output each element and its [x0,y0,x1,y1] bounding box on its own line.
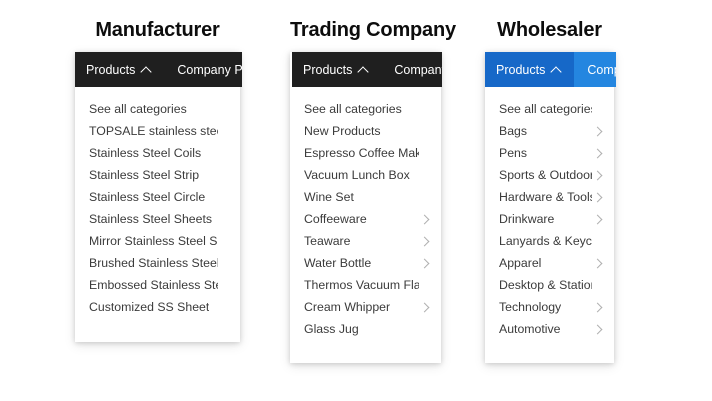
menu-item-label: Stainless Steel Circle [89,190,205,204]
chevron-right-icon [218,279,230,291]
chevron-right-icon [419,323,431,335]
chevron-right-icon [592,279,604,291]
chevron-right-icon [592,125,604,137]
chevron-right-icon [419,257,431,269]
menu-item-label: Glass Jug [304,322,359,336]
chevron-right-icon [419,235,431,247]
nav-tab-company[interactable]: Compan [574,52,616,87]
chevron-right-icon [419,279,431,291]
chevron-right-icon [419,125,431,137]
column-title-trading-company: Trading Company [290,18,441,42]
nav-tab-label: Products [303,63,352,77]
nav-tab-products[interactable]: Products [485,52,574,87]
chevron-up-icon [552,65,562,75]
menu-item-label: Hardware & Tools [499,190,592,204]
menu-item-label: Customized SS Sheet [89,300,209,314]
menu-item[interactable]: Stainless Steel Strip [75,164,240,186]
menu-list-trading-company: See all categories New Products Espresso… [290,87,441,350]
navbar-wholesaler: Products Compan [485,52,616,87]
menu-item-label: Desktop & Stationery [499,278,592,292]
menu-item-label: Pens [499,146,527,160]
menu-item[interactable]: Sports & Outdoors [485,164,614,186]
menu-item[interactable]: Automotive [485,318,614,340]
menu-item[interactable]: Thermos Vacuum Flask [290,274,441,296]
chevron-right-icon [218,191,230,203]
menu-item[interactable]: Cream Whipper [290,296,441,318]
nav-tab-label: Company Profile [177,63,242,77]
menu-item-label: Mirror Stainless Steel Sheet [89,234,218,248]
chevron-right-icon [592,213,604,225]
menu-item[interactable]: Coffeeware [290,208,441,230]
menu-item-label: Embossed Stainless Steel ... [89,278,218,292]
menu-item[interactable]: Wine Set [290,186,441,208]
menu-item[interactable]: Glass Jug [290,318,441,340]
column-title-wholesaler: Wholesaler [485,18,614,42]
menu-item-label: Cream Whipper [304,300,390,314]
chevron-right-icon [419,213,431,225]
menu-item-label: Lanyards & Keychains [499,234,592,248]
menu-item-label: Teaware [304,234,350,248]
chevron-right-icon [218,235,230,247]
menu-item-label: Thermos Vacuum Flask [304,278,419,292]
menu-item[interactable]: Water Bottle [290,252,441,274]
menu-item-label: Technology [499,300,561,314]
menu-item-label: See all categories [304,102,402,116]
chevron-right-icon [592,257,604,269]
chevron-right-icon [419,301,431,313]
menu-item-label: Stainless Steel Coils [89,146,201,160]
menu-item[interactable]: New Products [290,120,441,142]
menu-comparison-stage: Manufacturer See all categories TOPSALE … [0,0,712,401]
chevron-right-icon [592,169,604,181]
menu-item[interactable]: Drinkware [485,208,614,230]
menu-item-label: Automotive [499,322,561,336]
nav-tab-label: Products [496,63,545,77]
dropdown-panel-trading-company: See all categories New Products Espresso… [290,52,441,363]
chevron-right-icon [218,257,230,269]
menu-item[interactable]: Embossed Stainless Steel ... [75,274,240,296]
menu-item[interactable]: See all categories [75,98,240,120]
dropdown-panel-wholesaler: See all categories Bags Pens Sports & Ou… [485,52,614,363]
chevron-right-icon [592,103,604,115]
menu-item[interactable]: Pens [485,142,614,164]
menu-item-label: Espresso Coffee Maker [304,146,419,160]
menu-list-wholesaler: See all categories Bags Pens Sports & Ou… [485,87,614,350]
chevron-right-icon [592,235,604,247]
chevron-up-icon [142,65,152,75]
menu-item[interactable]: Teaware [290,230,441,252]
chevron-right-icon [592,147,604,159]
menu-item[interactable]: See all categories [485,98,614,120]
menu-item[interactable]: Lanyards & Keychains [485,230,614,252]
menu-item-label: Drinkware [499,212,554,226]
chevron-right-icon [419,191,431,203]
navbar-manufacturer: Products Company Profile [75,52,242,87]
menu-item[interactable]: Vacuum Lunch Box [290,164,441,186]
menu-item[interactable]: Mirror Stainless Steel Sheet [75,230,240,252]
menu-item-label: Apparel [499,256,541,270]
nav-tab-company[interactable]: Company [381,52,442,87]
chevron-right-icon [218,147,230,159]
menu-item[interactable]: Apparel [485,252,614,274]
menu-item[interactable]: Customized SS Sheet [75,296,240,318]
chevron-up-icon [359,65,369,75]
chevron-right-icon [218,125,230,137]
menu-item-label: See all categories [89,102,187,116]
chevron-right-icon [218,301,230,313]
chevron-right-icon [218,169,230,181]
dropdown-panel-manufacturer: See all categories TOPSALE stainless ste… [75,52,240,342]
menu-item-label: New Products [304,124,381,138]
menu-item-label: Wine Set [304,190,354,204]
navbar-trading-company: Products Company [292,52,442,87]
menu-item[interactable]: See all categories [290,98,441,120]
menu-item[interactable]: TOPSALE stainless steel [75,120,240,142]
menu-item[interactable]: Brushed Stainless Steel Sh... [75,252,240,274]
menu-item[interactable]: Hardware & Tools [485,186,614,208]
column-trading-company: Trading Company See all categories New P… [290,18,441,348]
menu-item-label: Bags [499,124,527,138]
nav-tab-products[interactable]: Products [292,52,381,87]
menu-item-label: See all categories [499,102,592,116]
menu-item-label: Sports & Outdoors [499,168,592,182]
menu-item-label: Brushed Stainless Steel Sh... [89,256,218,270]
menu-item-label: Water Bottle [304,256,371,270]
column-title-manufacturer: Manufacturer [75,18,240,42]
menu-item-label: Stainless Steel Strip [89,168,199,182]
nav-tab-products[interactable]: Products [75,52,164,87]
menu-item[interactable]: Stainless Steel Sheets [75,208,240,230]
chevron-right-icon [419,147,431,159]
menu-item[interactable]: Desktop & Stationery [485,274,614,296]
menu-item[interactable]: Stainless Steel Circle [75,186,240,208]
menu-item[interactable]: Technology [485,296,614,318]
nav-tab-label: Products [86,63,135,77]
menu-item[interactable]: Stainless Steel Coils [75,142,240,164]
chevron-right-icon [218,103,230,115]
nav-tab-company-profile[interactable]: Company Profile [164,52,242,87]
chevron-right-icon [419,103,431,115]
menu-item-label: Coffeeware [304,212,367,226]
nav-tab-label: Company [394,63,442,77]
chevron-right-icon [592,191,604,203]
column-wholesaler: Wholesaler See all categories Bags Pens … [485,18,614,348]
menu-item[interactable]: Espresso Coffee Maker [290,142,441,164]
menu-item-label: Vacuum Lunch Box [304,168,410,182]
menu-list-manufacturer: See all categories TOPSALE stainless ste… [75,87,240,328]
column-manufacturer: Manufacturer See all categories TOPSALE … [75,18,240,348]
menu-item[interactable]: Bags [485,120,614,142]
chevron-right-icon [218,213,230,225]
menu-item-label: TOPSALE stainless steel [89,124,218,138]
chevron-right-icon [592,301,604,313]
chevron-right-icon [592,323,604,335]
nav-tab-label: Compan [587,63,616,77]
chevron-right-icon [419,169,431,181]
menu-item-label: Stainless Steel Sheets [89,212,212,226]
